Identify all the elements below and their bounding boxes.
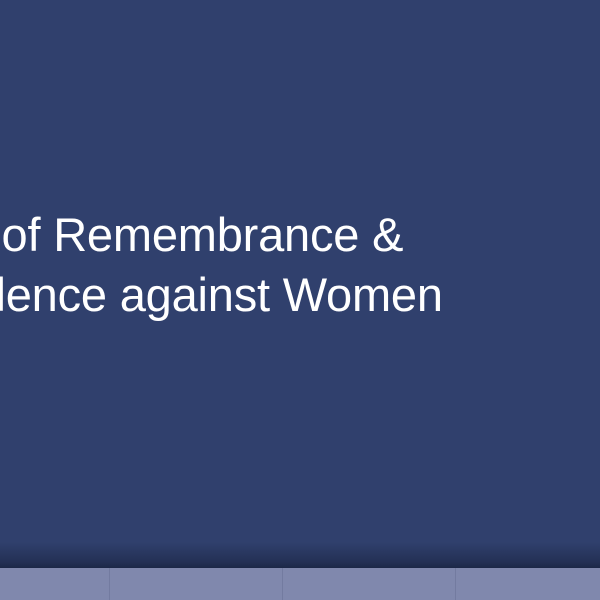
slide-screen: National Day of Remembrance & Action on …	[0, 0, 600, 600]
slide-bottom-shade	[0, 542, 600, 568]
footer-progress-strip[interactable]	[0, 568, 600, 600]
hero-text-block: National Day of Remembrance & Action on …	[0, 205, 600, 387]
headline-line-2: Action on Violence against Women	[0, 265, 600, 325]
slide-canvas: National Day of Remembrance & Action on …	[0, 0, 600, 568]
footer-segment-1[interactable]	[0, 568, 110, 600]
footer-segment-2[interactable]	[110, 568, 283, 600]
page-title: National Day of Remembrance & Action on …	[0, 205, 600, 325]
footer-segment-4[interactable]	[456, 568, 600, 600]
footer-segment-3[interactable]	[283, 568, 456, 600]
headline-line-1: National Day of Remembrance &	[0, 205, 600, 265]
event-date: December 6	[0, 325, 600, 387]
